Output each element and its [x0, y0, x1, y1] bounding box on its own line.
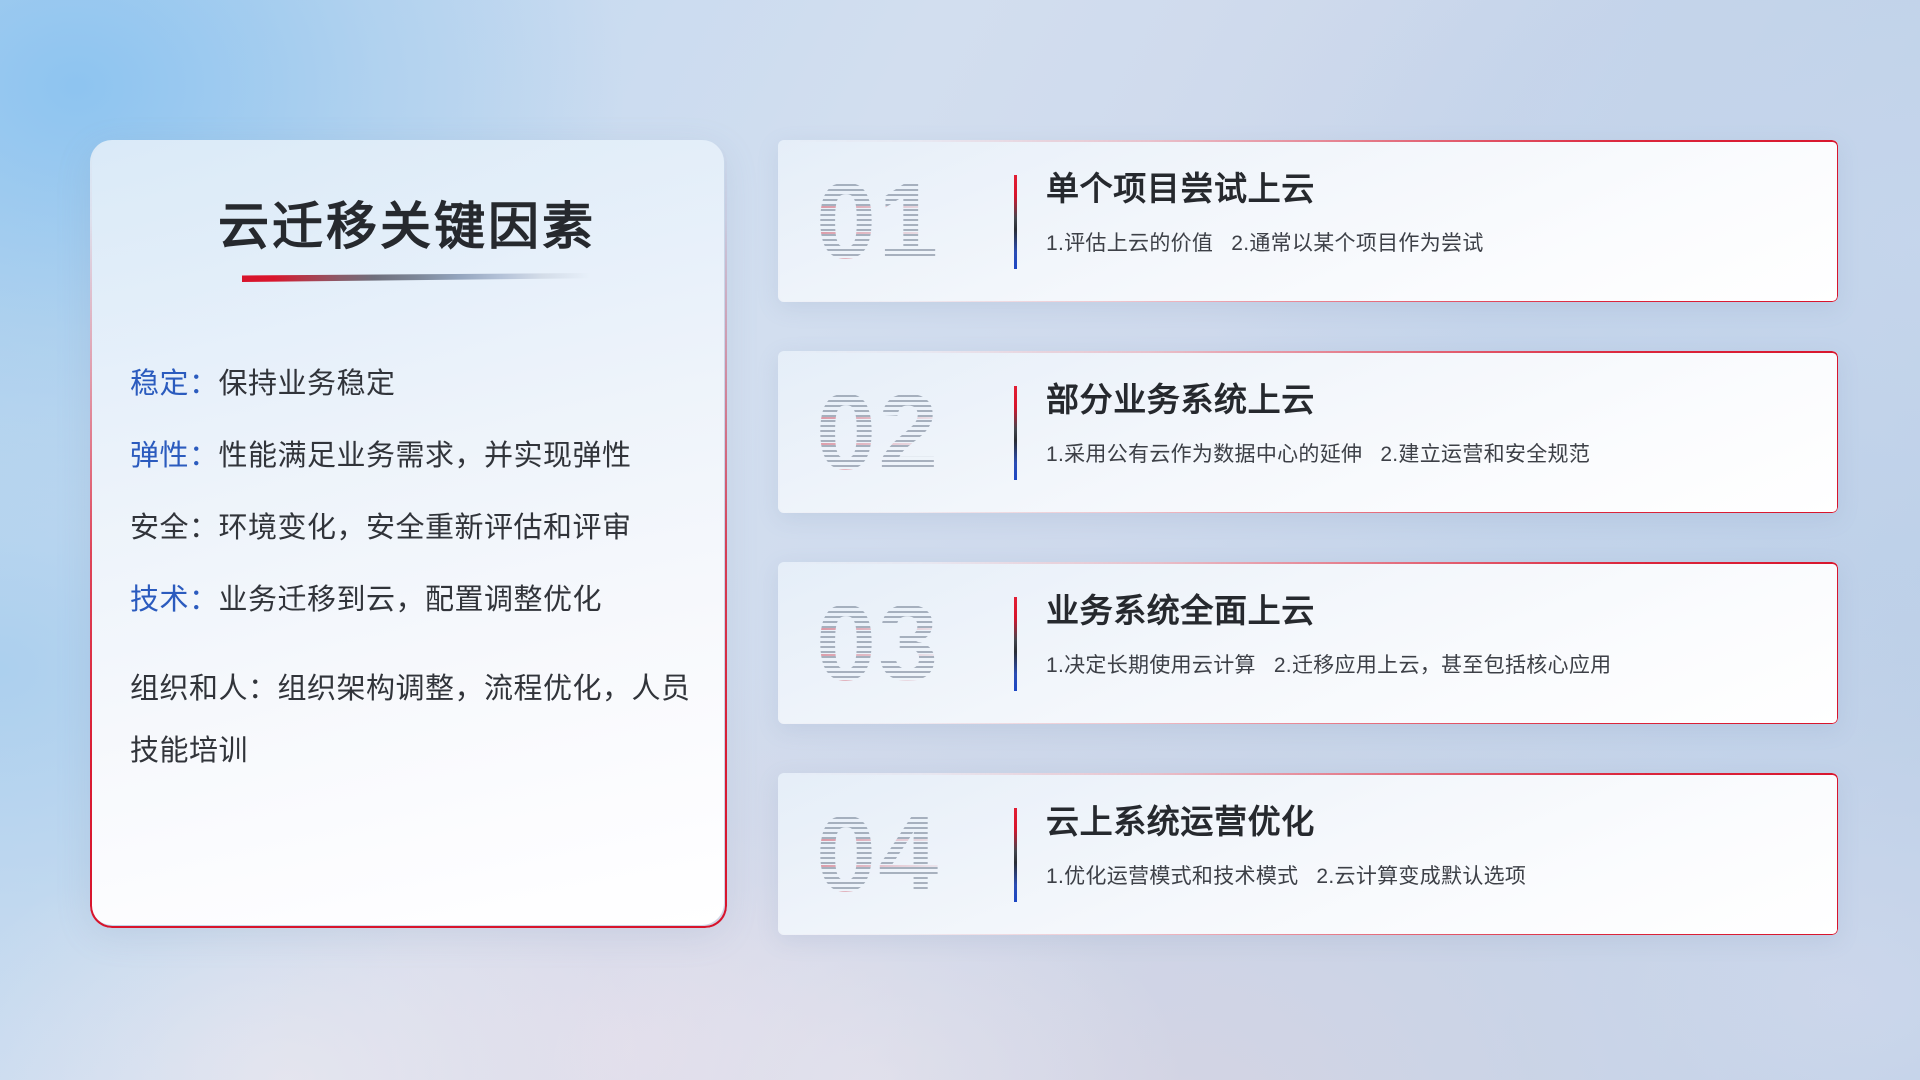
step-title: 单个项目尝试上云 [1046, 168, 1814, 209]
step-description-item-1: 1.评估上云的价值 [1046, 232, 1213, 255]
step-description-item-1: 1.优化运营模式和技术模式 [1046, 865, 1298, 888]
step-title: 部分业务系统上云 [1046, 379, 1814, 420]
step-divider-bar [1014, 386, 1017, 480]
factor-row: 组织和人：组织架构调整，流程优化，人员技能培训 [130, 658, 696, 782]
step-description-item-2: 2.迁移应用上云，甚至包括核心应用 [1274, 654, 1612, 677]
step-description: 1.采用公有云作为数据中心的延伸2.建立运营和安全规范 [1046, 438, 1814, 468]
title-underline-rule [242, 273, 590, 282]
step-card[interactable]: 0101单个项目尝试上云1.评估上云的价值2.通常以某个项目作为尝试 [778, 140, 1838, 302]
step-card[interactable]: 0303业务系统全面上云1.决定长期使用云计算2.迁移应用上云，甚至包括核心应用 [778, 562, 1838, 724]
step-number: 01 [816, 154, 1026, 288]
step-description-item-2: 2.建立运营和安全规范 [1380, 443, 1590, 466]
page-title: 云迁移关键因素 [90, 185, 724, 259]
step-number: 02 [816, 365, 1026, 499]
factor-body: 性能满足业务需求，并实现弹性 [219, 440, 632, 472]
step-description: 1.优化运营模式和技术模式2.云计算变成默认选项 [1046, 860, 1814, 890]
migration-steps-list: 0101单个项目尝试上云1.评估上云的价值2.通常以某个项目作为尝试0202部分… [778, 140, 1838, 984]
step-number: 04 [816, 787, 1026, 921]
step-description: 1.评估上云的价值2.通常以某个项目作为尝试 [1046, 227, 1814, 257]
step-card[interactable]: 0404云上系统运营优化1.优化运营模式和技术模式2.云计算变成默认选项 [778, 773, 1838, 935]
factor-label: 安全： [130, 512, 219, 544]
factor-label: 弹性： [130, 440, 219, 472]
step-divider-bar [1014, 175, 1017, 269]
factor-label: 组织和人： [130, 673, 278, 705]
factor-row: 稳定：保持业务稳定 [130, 370, 696, 399]
step-text-block: 云上系统运营优化1.优化运营模式和技术模式2.云计算变成默认选项 [1046, 801, 1814, 890]
factor-body: 保持业务稳定 [219, 368, 396, 400]
step-card[interactable]: 0202部分业务系统上云1.采用公有云作为数据中心的延伸2.建立运营和安全规范 [778, 351, 1838, 513]
key-factors-list: 稳定：保持业务稳定弹性：性能满足业务需求，并实现弹性安全：环境变化，安全重新评估… [130, 370, 696, 782]
factor-label: 技术： [130, 584, 219, 616]
step-text-block: 业务系统全面上云1.决定长期使用云计算2.迁移应用上云，甚至包括核心应用 [1046, 590, 1814, 679]
step-text-block: 部分业务系统上云1.采用公有云作为数据中心的延伸2.建立运营和安全规范 [1046, 379, 1814, 468]
step-description: 1.决定长期使用云计算2.迁移应用上云，甚至包括核心应用 [1046, 649, 1814, 679]
step-description-item-2: 2.云计算变成默认选项 [1316, 865, 1526, 888]
step-divider-bar [1014, 808, 1017, 902]
slide-stage: 云迁移关键因素 稳定：保持业务稳定弹性：性能满足业务需求，并实现弹性安全：环境变… [0, 0, 1920, 1080]
factor-body: 业务迁移到云，配置调整优化 [219, 584, 603, 616]
step-number: 03 [816, 576, 1026, 710]
factor-row: 弹性：性能满足业务需求，并实现弹性 [130, 442, 696, 471]
step-description-item-1: 1.决定长期使用云计算 [1046, 654, 1256, 677]
key-factors-card: 云迁移关键因素 稳定：保持业务稳定弹性：性能满足业务需求，并实现弹性安全：环境变… [90, 140, 724, 925]
step-text-block: 单个项目尝试上云1.评估上云的价值2.通常以某个项目作为尝试 [1046, 168, 1814, 257]
step-title: 云上系统运营优化 [1046, 801, 1814, 842]
step-divider-bar [1014, 597, 1017, 691]
factor-row: 技术：业务迁移到云，配置调整优化 [130, 586, 696, 615]
step-description-item-1: 1.采用公有云作为数据中心的延伸 [1046, 443, 1362, 466]
step-title: 业务系统全面上云 [1046, 590, 1814, 631]
factor-body: 环境变化，安全重新评估和评审 [219, 512, 632, 544]
factor-label: 稳定： [130, 368, 219, 400]
step-description-item-2: 2.通常以某个项目作为尝试 [1231, 232, 1483, 255]
factor-row: 安全：环境变化，安全重新评估和评审 [130, 514, 696, 543]
